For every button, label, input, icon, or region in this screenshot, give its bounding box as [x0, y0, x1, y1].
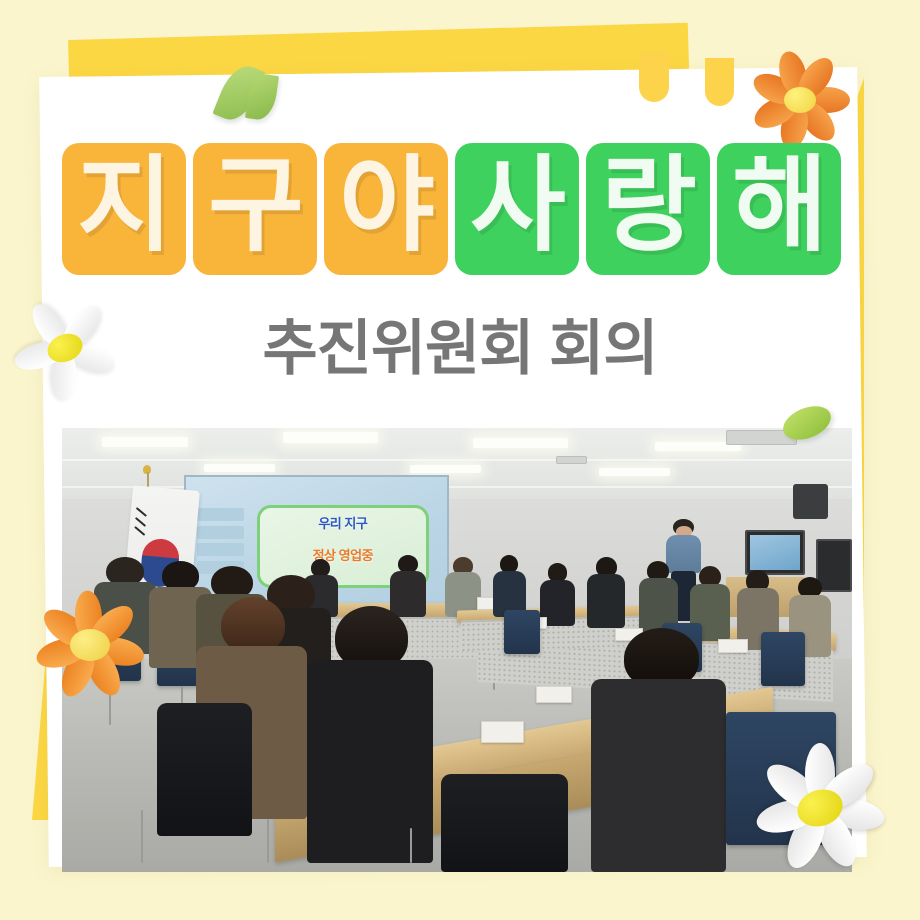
tab-yellow-right — [705, 58, 734, 106]
foreground-attendee-6 — [307, 606, 433, 864]
poster-canvas: 지 구 야 사 랑 해 추진위원회 회의 — [0, 0, 920, 920]
tab-yellow-left — [639, 52, 669, 102]
leaf-green-right — [782, 408, 834, 446]
title-box-6: 해 — [717, 143, 841, 275]
screen-text-line1: 우리 지구 — [260, 513, 426, 532]
page-subtitle: 추진위원회 회의 — [0, 300, 920, 387]
foreground-attendee-7 — [591, 628, 725, 872]
title-box-5: 랑 — [586, 143, 710, 275]
meeting-photo: 우리 지구 정상 영업중 — [62, 428, 852, 872]
flower-orange-left — [32, 590, 147, 700]
leaf-green-top — [222, 58, 292, 124]
title-box-1: 지 — [62, 143, 186, 275]
title-box-3: 야 — [324, 143, 448, 275]
flower-orange-top — [745, 45, 855, 155]
title-row: 지 구 야 사 랑 해 — [62, 143, 862, 278]
flower-white-bottom — [755, 745, 885, 870]
title-box-4: 사 — [455, 143, 579, 275]
title-box-2: 구 — [193, 143, 317, 275]
